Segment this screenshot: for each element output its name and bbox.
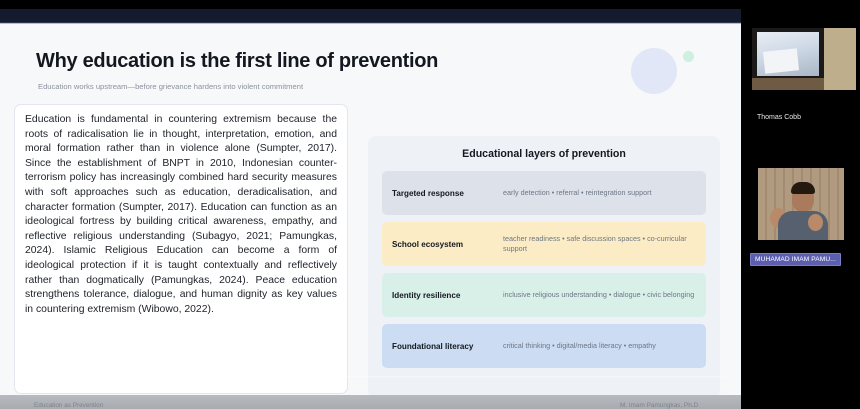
layer-row-name: Identity resilience <box>392 290 497 301</box>
layer-row-name: Foundational literacy <box>392 341 497 352</box>
slide-subtitle: Education works upstream—before grievanc… <box>38 82 303 91</box>
layer-row: Targeted responseearly detection • refer… <box>382 171 706 215</box>
participant-video-rail: Thomas Cobb MUHAMAD IMAM PAMU... <box>741 0 860 409</box>
participant-name-label: Thomas Cobb <box>757 114 801 121</box>
slide-body-card: Education is fundamental in countering e… <box>14 104 348 394</box>
layer-row: Foundational literacycritical thinking •… <box>382 324 706 368</box>
layer-row: School ecosystemteacher readiness • safe… <box>382 222 706 266</box>
active-speaker-name-label: MUHAMAD IMAM PAMU... <box>750 253 841 266</box>
browser-nav-bar <box>0 9 741 23</box>
layer-row-name: School ecosystem <box>392 239 497 250</box>
slide-body-text: Education is fundamental in countering e… <box>25 113 337 317</box>
participant-tile-muhamad-imam-pamungkas[interactable]: MUHAMAD IMAM PAMU... <box>741 140 860 270</box>
slide-footer-right: M. Imam Pamungkas, Ph.D <box>620 402 698 409</box>
monitor-frame-shape <box>752 28 824 90</box>
window-top-strip <box>0 0 860 9</box>
hair-shape <box>791 182 815 194</box>
participant-video-feed <box>752 28 856 90</box>
desk-shape <box>752 78 824 90</box>
educational-layers-panel: Educational layers of prevention Targete… <box>368 136 720 395</box>
layer-row: Identity resilienceinclusive religious u… <box>382 273 706 317</box>
hand-right-shape <box>808 214 823 231</box>
decorative-circle-large-icon <box>631 48 677 94</box>
meeting-screen-share-view: Why education is the first line of preve… <box>0 0 860 409</box>
layer-row-detail: inclusive religious understanding • dial… <box>497 290 696 300</box>
layers-panel-title: Educational layers of prevention <box>382 148 706 160</box>
slide-footer-left: Education as Prevention <box>34 402 103 409</box>
presentation-slide: Why education is the first line of preve… <box>0 24 741 395</box>
shared-screen-region: Why education is the first line of preve… <box>0 9 741 409</box>
layer-row-detail: critical thinking • digital/media litera… <box>497 341 696 351</box>
slide-title: Why education is the first line of preve… <box>36 50 438 73</box>
wall-shape <box>824 28 856 90</box>
decorative-circle-small-icon <box>683 51 694 62</box>
layer-row-detail: early detection • referral • reintegrati… <box>497 188 696 198</box>
participant-tile-thomas-cobb[interactable]: Thomas Cobb <box>741 10 860 132</box>
paper-shape <box>763 48 799 73</box>
layer-row-detail: teacher readiness • safe discussion spac… <box>497 234 696 254</box>
participant-video-feed <box>758 168 844 240</box>
layer-row-name: Targeted response <box>392 188 497 199</box>
layer-row-list: Targeted responseearly detection • refer… <box>382 171 706 368</box>
